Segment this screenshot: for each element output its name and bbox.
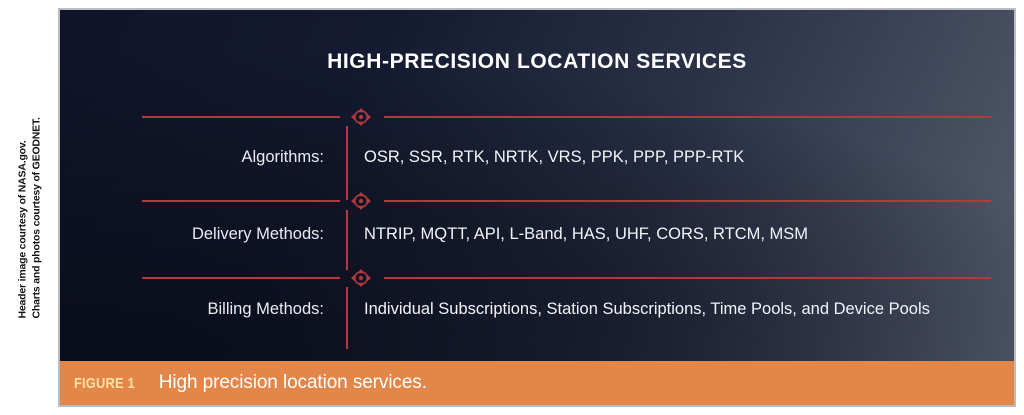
target-node-icon	[342, 108, 380, 126]
figure-caption-bar: FIGURE 1 High precision location service…	[60, 361, 1014, 405]
row-delivery-methods: Delivery Methods: NTRIP, MQTT, API, L-Ba…	[142, 223, 991, 245]
credit-line-2: Charts and photos courtesy of GEODNET.	[30, 19, 44, 319]
photo-credits: Header image courtesy of NASA.gov. Chart…	[0, 0, 58, 415]
row-value-algorithms: OSR, SSR, RTK, NRTK, VRS, PPK, PPP, PPP-…	[342, 146, 991, 168]
divider-line-left	[142, 200, 340, 202]
credit-line-1: Header image courtesy of NASA.gov.	[17, 19, 31, 319]
divider-2	[142, 192, 991, 210]
row-value-billing-methods: Individual Subscriptions, Station Subscr…	[342, 298, 991, 320]
divider-3	[142, 269, 991, 287]
panel-title: HIGH-PRECISION LOCATION SERVICES	[60, 50, 1014, 74]
figure-frame: HIGH-PRECISION LOCATION SERVICES	[58, 8, 1016, 407]
diagram-panel: HIGH-PRECISION LOCATION SERVICES	[60, 10, 1014, 365]
divider-line-right	[384, 200, 991, 202]
divider-1	[142, 108, 991, 126]
figure-container: Header image courtesy of NASA.gov. Chart…	[0, 0, 1024, 415]
divider-line-left	[142, 277, 340, 279]
target-node-icon	[342, 269, 380, 287]
figure-caption-text: High precision location services.	[159, 372, 427, 394]
divider-line-right	[384, 116, 991, 118]
figure-number-tag: FIGURE 1	[74, 375, 135, 392]
row-algorithms: Algorithms: OSR, SSR, RTK, NRTK, VRS, PP…	[142, 146, 991, 168]
row-value-delivery-methods: NTRIP, MQTT, API, L-Band, HAS, UHF, CORS…	[342, 223, 991, 245]
row-label-algorithms: Algorithms:	[142, 146, 342, 168]
row-label-billing-methods: Billing Methods:	[142, 298, 342, 320]
divider-line-right	[384, 277, 991, 279]
row-billing-methods: Billing Methods: Individual Subscription…	[142, 298, 991, 320]
divider-line-left	[142, 116, 340, 118]
row-label-delivery-methods: Delivery Methods:	[142, 223, 342, 245]
